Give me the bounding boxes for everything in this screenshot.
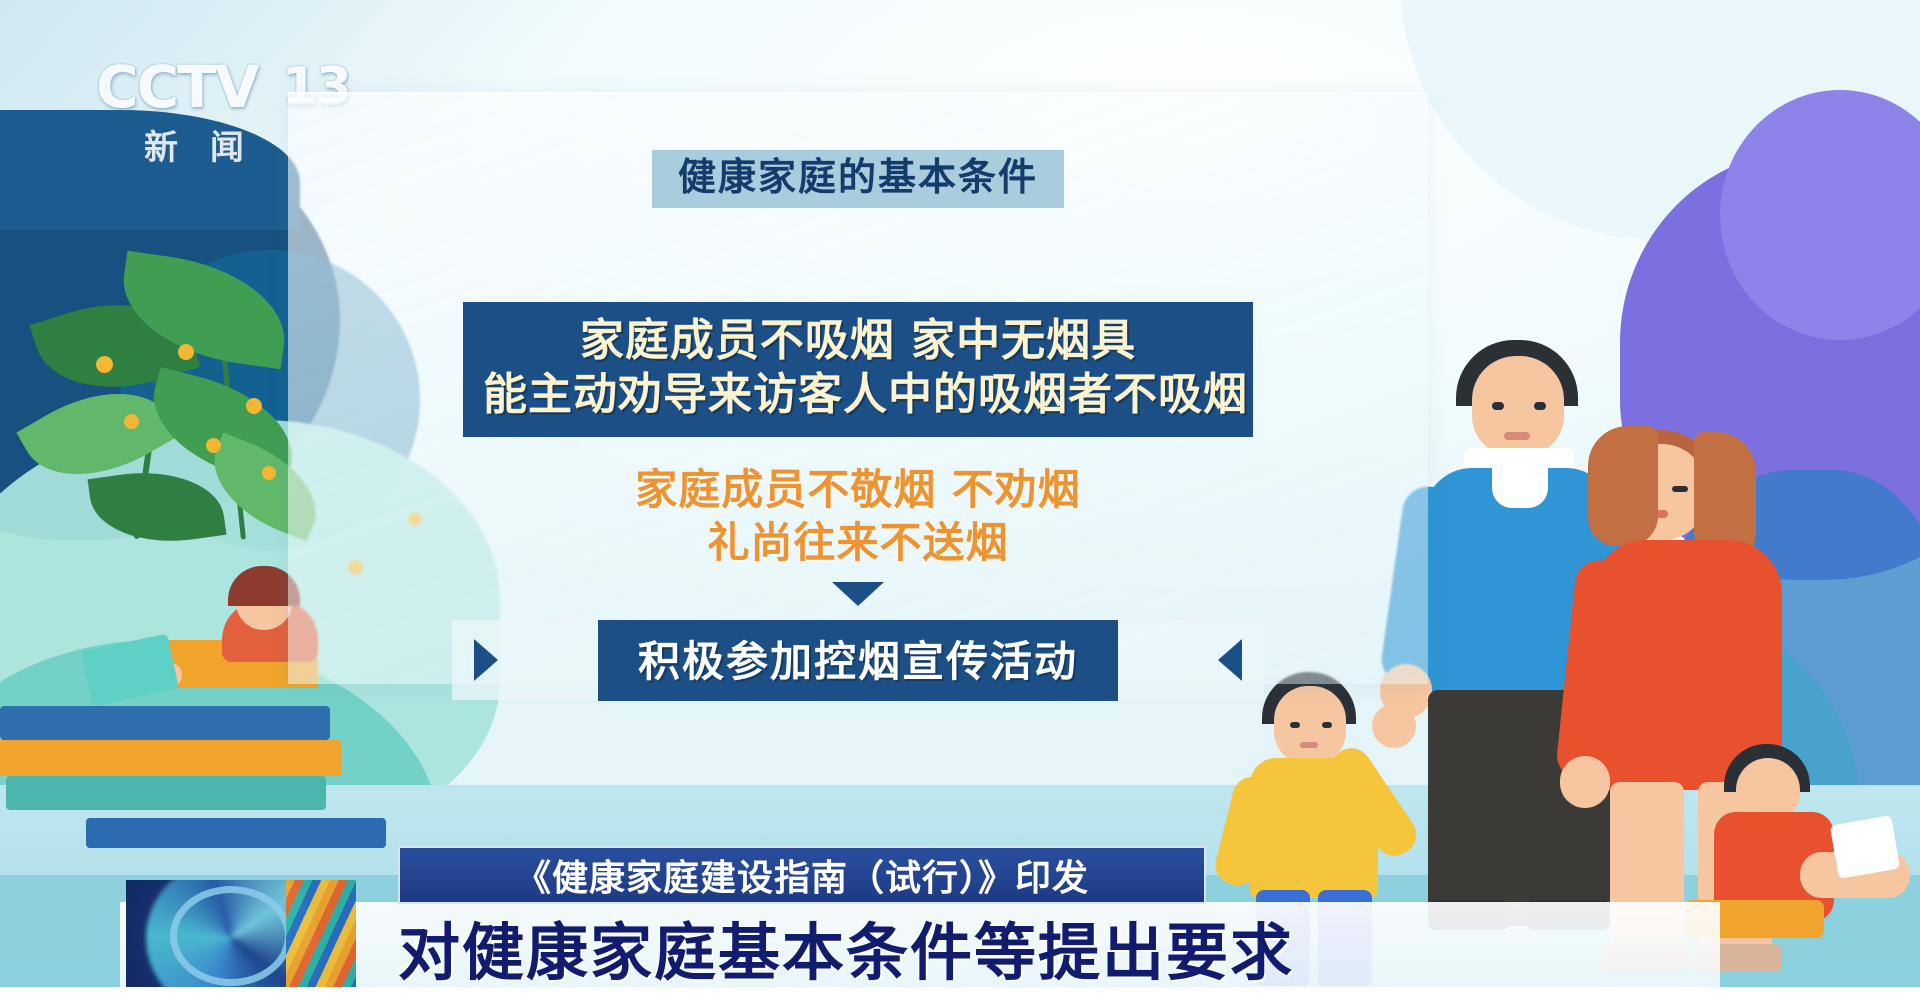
arrow-down-icon (832, 582, 884, 606)
condition-line-1: 家庭成员不吸烟 家中无烟具 (483, 314, 1233, 368)
channel-logo-name: CCTV (96, 58, 258, 116)
condition-orange-block: 家庭成员不敬烟 不劝烟 礼尚往来不送烟 (428, 464, 1288, 569)
triangle-right-icon (474, 639, 498, 681)
condition-bottom-text: 积极参加控烟宣传活动 (638, 628, 1078, 689)
broadcast-screen: CCTV 13 新 闻 健康家庭的基本条件 家庭成员不吸烟 家中无烟具 能主动劝… (0, 0, 1920, 995)
orb-ring-graphic (170, 886, 292, 986)
lower-third-headline-bar: 《健康家庭建设指南（试行）》印发 (398, 846, 1206, 904)
lower-third-subhead-bar: 对健康家庭基本条件等提出要求 (398, 904, 1398, 990)
panel-title-wrap: 健康家庭的基本条件 (652, 150, 1064, 208)
lower-third-subhead: 对健康家庭基本条件等提出要求 (398, 902, 1294, 992)
triangle-left-icon (1218, 639, 1242, 681)
bottom-edge (0, 987, 1920, 995)
channel-logo-divider (262, 62, 276, 112)
orange-line-2: 礼尚往来不送烟 (428, 517, 1288, 570)
orb-stripes-graphic (286, 880, 356, 992)
condition-bottom-box: 积极参加控烟宣传活动 (598, 620, 1118, 701)
condition-line-2: 能主动劝导来访客人中的吸烟者不吸烟 (483, 368, 1233, 422)
orange-line-1: 家庭成员不敬烟 不劝烟 (428, 464, 1288, 517)
lower-third-logo-orb (126, 880, 356, 992)
lower-third-headline: 《健康家庭建设指南（试行）》印发 (515, 849, 1089, 901)
panel-title: 健康家庭的基本条件 (652, 150, 1064, 208)
info-panel: 健康家庭的基本条件 家庭成员不吸烟 家中无烟具 能主动劝导来访客人中的吸烟者不吸… (288, 92, 1428, 684)
condition-navy-box: 家庭成员不吸烟 家中无烟具 能主动劝导来访客人中的吸烟者不吸烟 (463, 302, 1253, 437)
condition-bottom-strip: 积极参加控烟宣传活动 (452, 620, 1264, 700)
